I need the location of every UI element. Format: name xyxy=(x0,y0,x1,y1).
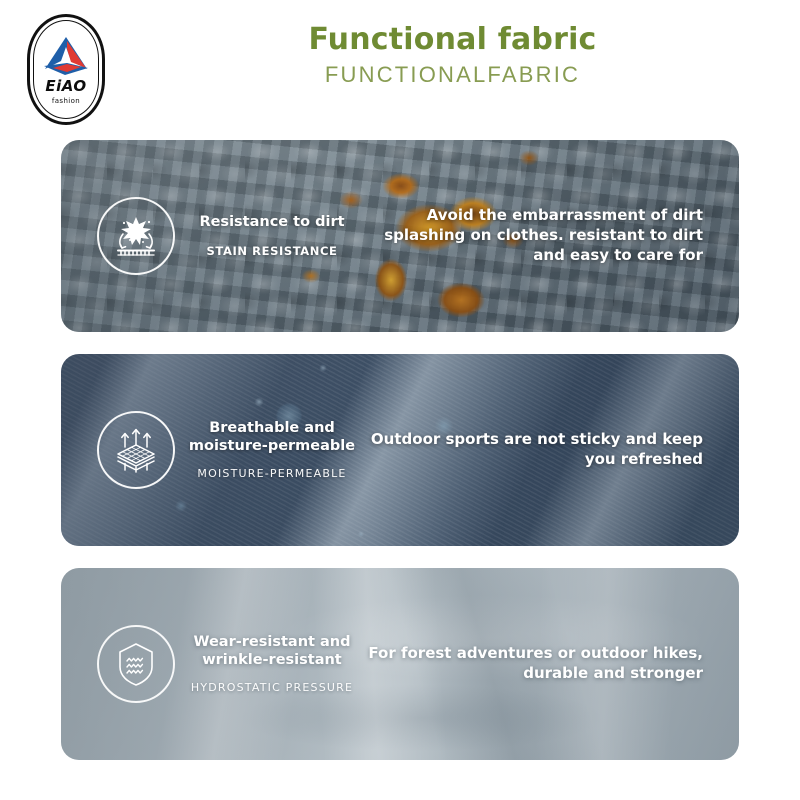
feature-label: MOISTURE-PERMEABLE xyxy=(187,467,357,480)
breathable-layers-arrows-icon xyxy=(97,411,175,489)
feature-title: Wear-resistant and wrinkle-resistant xyxy=(187,634,357,669)
feature-text-block: Breathable and moisture-permeable MOISTU… xyxy=(181,420,363,480)
feature-description: Avoid the embarrassment of dirt splashin… xyxy=(363,206,725,265)
title-block: Functional fabric FUNCTIONALFABRIC xyxy=(145,22,760,88)
feature-panel-stain-resistance[interactable]: Resistance to dirt STAIN RESISTANCE Avoi… xyxy=(61,140,739,332)
feature-title: Breathable and moisture-permeable xyxy=(187,420,357,455)
page-subtitle: FUNCTIONALFABRIC xyxy=(145,62,760,88)
feature-description: Outdoor sports are not sticky and keep y… xyxy=(363,430,725,470)
feature-text-block: Resistance to dirt STAIN RESISTANCE xyxy=(181,214,363,258)
feature-panel-list: Resistance to dirt STAIN RESISTANCE Avoi… xyxy=(0,140,800,782)
product-feature-page: EiAO fashion Functional fabric FUNCTIONA… xyxy=(0,0,800,800)
page-header: EiAO fashion Functional fabric FUNCTIONA… xyxy=(0,0,800,140)
brand-tagline: fashion xyxy=(52,97,80,105)
triangle-logo-icon xyxy=(41,35,91,77)
brand-name: EiAO xyxy=(45,79,86,94)
feature-title: Resistance to dirt xyxy=(187,214,357,232)
feature-panel-hydrostatic-pressure[interactable]: Wear-resistant and wrinkle-resistant HYD… xyxy=(61,568,739,760)
page-title: Functional fabric xyxy=(145,22,760,57)
brand-logo: EiAO fashion xyxy=(27,14,105,125)
feature-panel-moisture-permeable[interactable]: Breathable and moisture-permeable MOISTU… xyxy=(61,354,739,546)
feature-text-block: Wear-resistant and wrinkle-resistant HYD… xyxy=(181,634,363,694)
feature-description: For forest adventures or outdoor hikes, … xyxy=(363,644,725,684)
shield-waves-icon xyxy=(97,625,175,703)
feature-label: HYDROSTATIC PRESSURE xyxy=(187,681,357,694)
splash-repellent-icon xyxy=(97,197,175,275)
feature-label: STAIN RESISTANCE xyxy=(187,244,357,258)
